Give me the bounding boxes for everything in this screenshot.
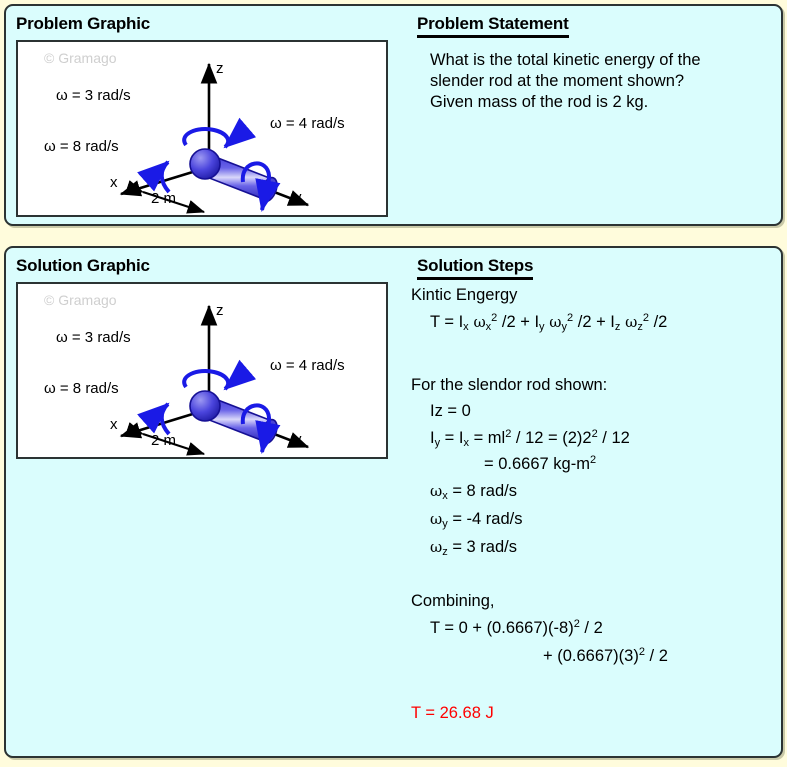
axis-label-y: y xyxy=(294,431,302,448)
axis-label-x: x xyxy=(110,416,118,433)
step-iy-ix-equation: Iy = Ix = ml2 / 12 = (2)22 / 12 xyxy=(430,428,630,449)
omega-y-label: ω = 4 rad/s xyxy=(270,115,345,132)
combine1-a: T = 0 + (0.6667)(-8) xyxy=(430,619,574,637)
solution-steps-title: Solution Steps xyxy=(417,256,533,280)
iy-result-a: = 0.6667 kg-m xyxy=(484,455,590,473)
step-omega-x: ωx = 8 rad/s xyxy=(430,482,517,502)
iy-e: / 12 xyxy=(598,429,630,447)
omega-y-label: ω = 4 rad/s xyxy=(270,357,345,374)
problem-graphic-title: Problem Graphic xyxy=(16,14,150,34)
iy-result-sup: 2 xyxy=(590,454,596,466)
combine2-b: / 2 xyxy=(645,647,668,665)
problem-statement-title: Problem Statement xyxy=(417,14,569,38)
omega-symbol: ω xyxy=(430,510,442,528)
eq-mid-2: /2 + I xyxy=(573,313,615,331)
step-iz-value: Iz = 0 xyxy=(430,402,471,421)
eq-omega-z: ω xyxy=(620,313,637,331)
omega-symbol: ω xyxy=(430,538,442,556)
step-heading-combining: Combining, xyxy=(411,592,494,611)
step-combine-line-1: T = 0 + (0.6667)(-8)2 / 2 xyxy=(430,618,603,638)
axis-label-x: x xyxy=(110,174,118,191)
omega-x-value: = 8 rad/s xyxy=(448,482,517,500)
step-equation-kinetic-energy: T = Ix ωx2 /2 + Iy ωy2 /2 + Iz ωz2 /2 xyxy=(430,312,667,333)
problem-graphic-box: © Gramago xyxy=(16,40,388,217)
omega-x-label: ω = 8 rad/s xyxy=(44,380,119,397)
eq-omega-y: ω xyxy=(545,313,562,331)
iy-b: = I xyxy=(440,429,463,447)
step-iy-result: = 0.6667 kg-m2 xyxy=(484,454,596,474)
solution-graphic-box: © Gramago xyxy=(16,282,388,459)
omega-y-value: = -4 rad/s xyxy=(448,510,523,528)
omega-z-label: ω = 3 rad/s xyxy=(56,87,131,104)
solution-graphic-title: Solution Graphic xyxy=(16,256,150,276)
iy-c: = ml xyxy=(469,429,505,447)
problem-panel: Problem Graphic © Gramago xyxy=(4,4,783,226)
final-answer: T = 26.68 J xyxy=(411,704,494,723)
combine1-b: / 2 xyxy=(580,619,603,637)
problem-statement-text: What is the total kinetic energy of the … xyxy=(430,50,760,113)
omega-x-label: ω = 8 rad/s xyxy=(44,138,119,155)
length-label: 2 m xyxy=(151,432,176,449)
step-omega-z: ωz = 3 rad/s xyxy=(430,538,517,558)
axis-label-y: y xyxy=(294,189,302,206)
axis-label-z: z xyxy=(216,60,224,77)
omega-z-value: = 3 rad/s xyxy=(448,538,517,556)
eq-mid-1: /2 + I xyxy=(497,313,539,331)
combine2-a: + (0.6667)(3) xyxy=(543,647,639,665)
length-label: 2 m xyxy=(151,190,176,207)
omega-symbol: ω xyxy=(430,482,442,500)
step-combine-line-2: + (0.6667)(3)2 / 2 xyxy=(543,646,668,666)
step-heading-kinetic-energy: Kintic Engergy xyxy=(411,286,517,305)
step-omega-y: ωy = -4 rad/s xyxy=(430,510,522,530)
eq-lead: T = I xyxy=(430,313,463,331)
iy-d: / 12 = (2)2 xyxy=(511,429,591,447)
eq-tail: /2 xyxy=(649,313,667,331)
eq-omega-x: ω xyxy=(469,313,486,331)
solution-panel: Solution Graphic © Gramago xyxy=(4,246,783,758)
axis-label-z: z xyxy=(216,302,224,319)
omega-z-label: ω = 3 rad/s xyxy=(56,329,131,346)
step-heading-slender-rod: For the slendor rod shown: xyxy=(411,376,607,395)
